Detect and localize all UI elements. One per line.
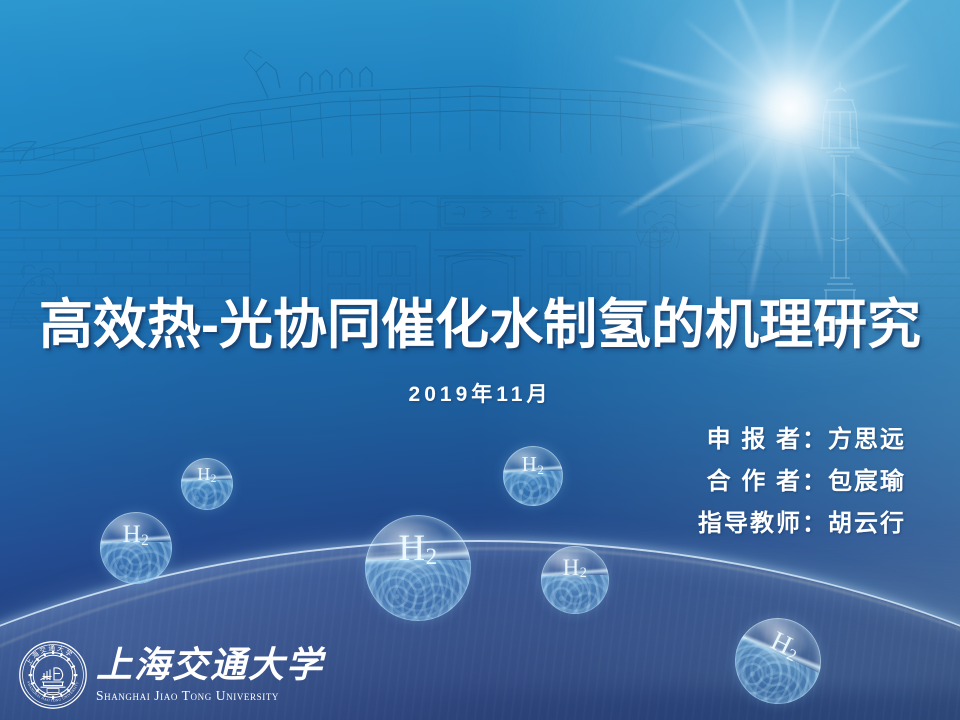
presentation-slide: H2 H2 H2 H2 H2 H2 高效热-光协同催化水制氢的机理研究 2019… (0, 0, 960, 720)
h2-bubble: H2 (541, 546, 609, 614)
sjtu-logo: 上海交通大学 SHANGHAI JIAO TONG UNIVERSITY 上海交… (18, 637, 318, 713)
h2-bubble: H2 (100, 512, 172, 584)
slide-title: 高效热-光协同催化水制氢的机理研究 (0, 296, 960, 354)
advisor-line: 指导教师：胡云行 (698, 503, 906, 545)
h2-bubble: H2 (181, 458, 233, 510)
sjtu-seal-icon: 上海交通大学 SHANGHAI JIAO TONG UNIVERSITY (18, 640, 88, 710)
sjtu-logo-chinese: 上海交通大学 (96, 647, 324, 683)
slide-date: 2019年11月 (0, 378, 960, 408)
collaborator-line: 合 作 者：包宸瑜 (698, 461, 906, 503)
presenter-line: 申 报 者：方思远 (698, 419, 906, 461)
sjtu-logo-english: Shanghai Jiao Tong University (96, 688, 324, 704)
h2-bubble: H2 (503, 446, 563, 506)
h2-bubble: H2 (365, 515, 471, 621)
author-block: 申 报 者：方思远 合 作 者：包宸瑜 指导教师：胡云行 (698, 419, 906, 545)
